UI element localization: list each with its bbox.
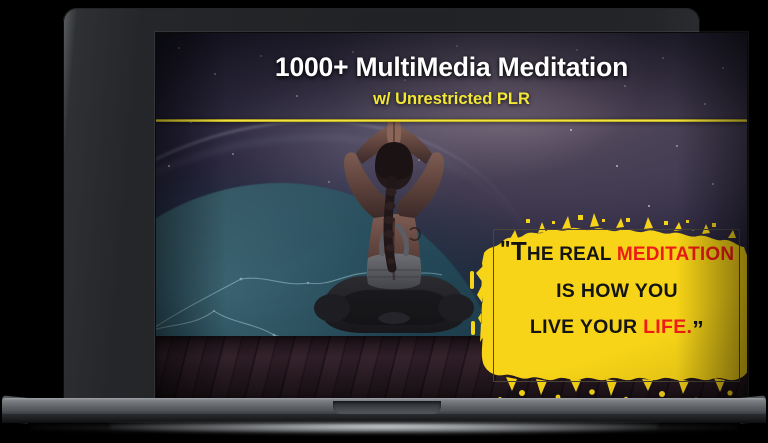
page-title: 1000+ MultiMedia Meditation <box>156 52 747 83</box>
base-front-lip <box>2 414 766 423</box>
screenshot-canvas: 1000+ MultiMedia Meditation w/ Unrestric… <box>0 0 768 443</box>
close-quote-mark: ” <box>692 316 704 342</box>
meditating-woman-silhouette <box>304 118 484 354</box>
quote-line-2: IS HOW YOU <box>486 282 747 302</box>
quote-line-1: "THE REAL MEDITATION <box>486 238 747 265</box>
quote-line1-highlight: MEDITATION <box>617 244 734 265</box>
quote-line-3: LIVE YOUR LIFE.” <box>486 318 747 341</box>
base-reflection-soft <box>30 426 738 432</box>
quote-line3-plain: LIVE YOUR <box>530 316 643 338</box>
open-quote-mark: " <box>500 236 511 262</box>
quote-line1-cap: T <box>511 236 527 266</box>
quote-line1-smallcaps: HE REAL <box>527 244 617 265</box>
quote-text-block: "THE REAL MEDITATION IS HOW YOU LIVE YOU… <box>486 238 747 341</box>
laptop-lid: 1000+ MultiMedia Meditation w/ Unrestric… <box>63 8 700 401</box>
page-subtitle: w/ Unrestricted PLR <box>156 90 747 109</box>
laptop-base <box>2 398 766 426</box>
base-center-notch <box>333 401 441 414</box>
quote-line3-highlight: LIFE <box>643 316 686 338</box>
header-divider <box>156 119 747 122</box>
laptop-screen: 1000+ MultiMedia Meditation w/ Unrestric… <box>156 33 747 398</box>
